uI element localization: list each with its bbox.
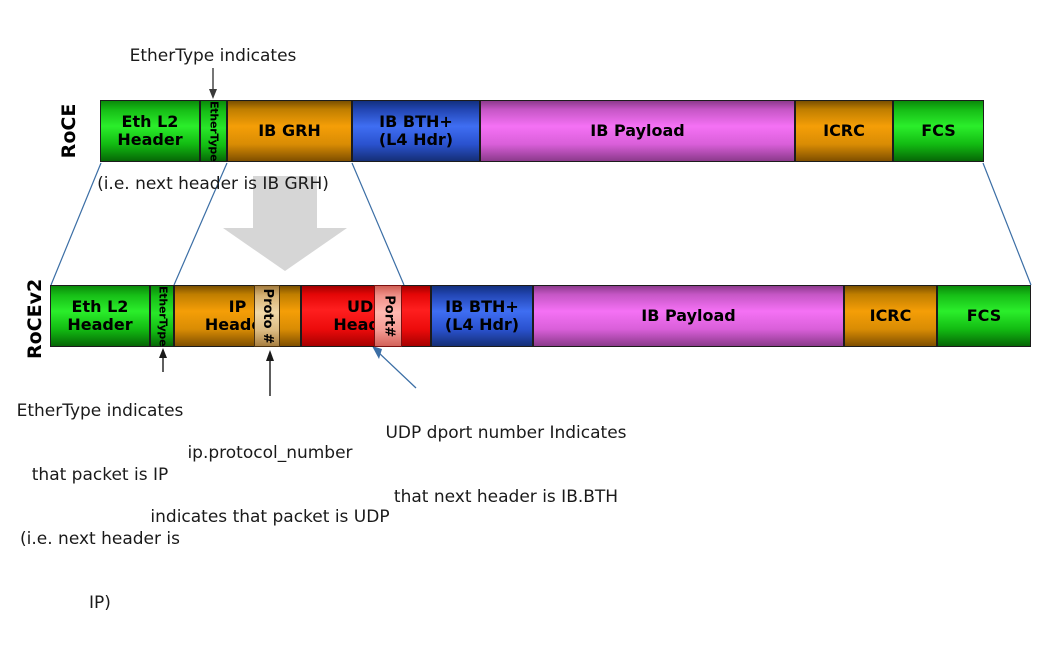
segment-ip-header[interactable]: IP Header <box>174 285 301 347</box>
segment-label: IB BTH+ (L4 Hdr) <box>445 298 519 334</box>
segment-label-line: (L4 Hdr) <box>379 130 453 149</box>
segment-label: Port# <box>381 295 396 337</box>
segment-eth-l2-header[interactable]: Eth L2 Header <box>100 100 200 162</box>
segment-udp-header[interactable]: UDP Header <box>301 285 431 347</box>
annotation-line: IP) <box>2 593 198 614</box>
segment-label: EtherType <box>207 101 219 161</box>
segment-label: Eth L2 Header <box>67 298 132 334</box>
segment-fcs[interactable]: FCS <box>937 285 1031 347</box>
annotation-line: UDP dport number Indicates <box>373 423 639 444</box>
annotation-line: EtherType indicates <box>93 46 333 67</box>
segment-label: Proto # <box>260 288 275 343</box>
diagram-canvas: EtherType indicates that packet is RoCE … <box>0 0 1037 447</box>
segment-ib-bth[interactable]: IB BTH+ (L4 Hdr) <box>431 285 533 347</box>
segment-label: ICRC <box>870 307 912 325</box>
row-label-roce: RoCE <box>58 98 80 164</box>
segment-label: IB GRH <box>258 122 321 140</box>
packet-bar-rocev2: Eth L2 Header EtherType IP Header UDP He… <box>50 285 1031 347</box>
segment-label-line: IP <box>229 297 247 316</box>
segment-label-line: Header <box>117 130 182 149</box>
segment-label: FCS <box>921 122 956 140</box>
segment-label-line: (L4 Hdr) <box>445 315 519 334</box>
packet-bar-roce: Eth L2 Header EtherType IB GRH IB BTH+ (… <box>100 100 984 162</box>
segment-label-line: IB BTH+ <box>379 112 453 131</box>
annotation-line: that next header is IB.BTH <box>373 487 639 508</box>
segment-ethertype[interactable]: EtherType <box>200 100 227 162</box>
annotation-udp-dport: UDP dport number Indicates that next hea… <box>373 380 639 551</box>
annotation-line: ip.protocol_number <box>140 443 400 464</box>
segment-port-number[interactable]: Port# <box>374 285 402 347</box>
annotation-line: (i.e. next header is IB GRH) <box>93 174 333 195</box>
row-label-rocev2: RoCEv2 <box>24 279 46 359</box>
segment-label: IB Payload <box>590 122 684 140</box>
segment-ethertype[interactable]: EtherType <box>150 285 174 347</box>
row-label-text: RoCEv2 <box>24 279 46 359</box>
annotation-line: indicates that packet is UDP <box>140 507 400 528</box>
segment-ib-payload[interactable]: IB Payload <box>480 100 795 162</box>
segment-ib-bth[interactable]: IB BTH+ (L4 Hdr) <box>352 100 480 162</box>
segment-fcs[interactable]: FCS <box>893 100 984 162</box>
segment-label-line: IB BTH+ <box>445 297 519 316</box>
segment-label: EtherType <box>156 286 168 346</box>
segment-label: IB Payload <box>641 307 735 325</box>
segment-label-line: Header <box>67 315 132 334</box>
segment-icrc[interactable]: ICRC <box>844 285 937 347</box>
segment-label-line: Eth L2 <box>72 297 129 316</box>
segment-label: FCS <box>967 307 1002 325</box>
segment-label: IB BTH+ (L4 Hdr) <box>379 113 453 149</box>
segment-ib-grh[interactable]: IB GRH <box>227 100 352 162</box>
segment-label: Eth L2 Header <box>117 113 182 149</box>
segment-label-line: Eth L2 <box>122 112 179 131</box>
segment-label: ICRC <box>823 122 865 140</box>
row-label-text: RoCE <box>58 104 80 159</box>
segment-proto-number[interactable]: Proto # <box>254 285 280 347</box>
annotation-ip-protocol-number: ip.protocol_number indicates that packet… <box>140 400 400 571</box>
segment-eth-l2-header[interactable]: Eth L2 Header <box>50 285 150 347</box>
segment-ib-payload[interactable]: IB Payload <box>533 285 844 347</box>
segment-icrc[interactable]: ICRC <box>795 100 893 162</box>
